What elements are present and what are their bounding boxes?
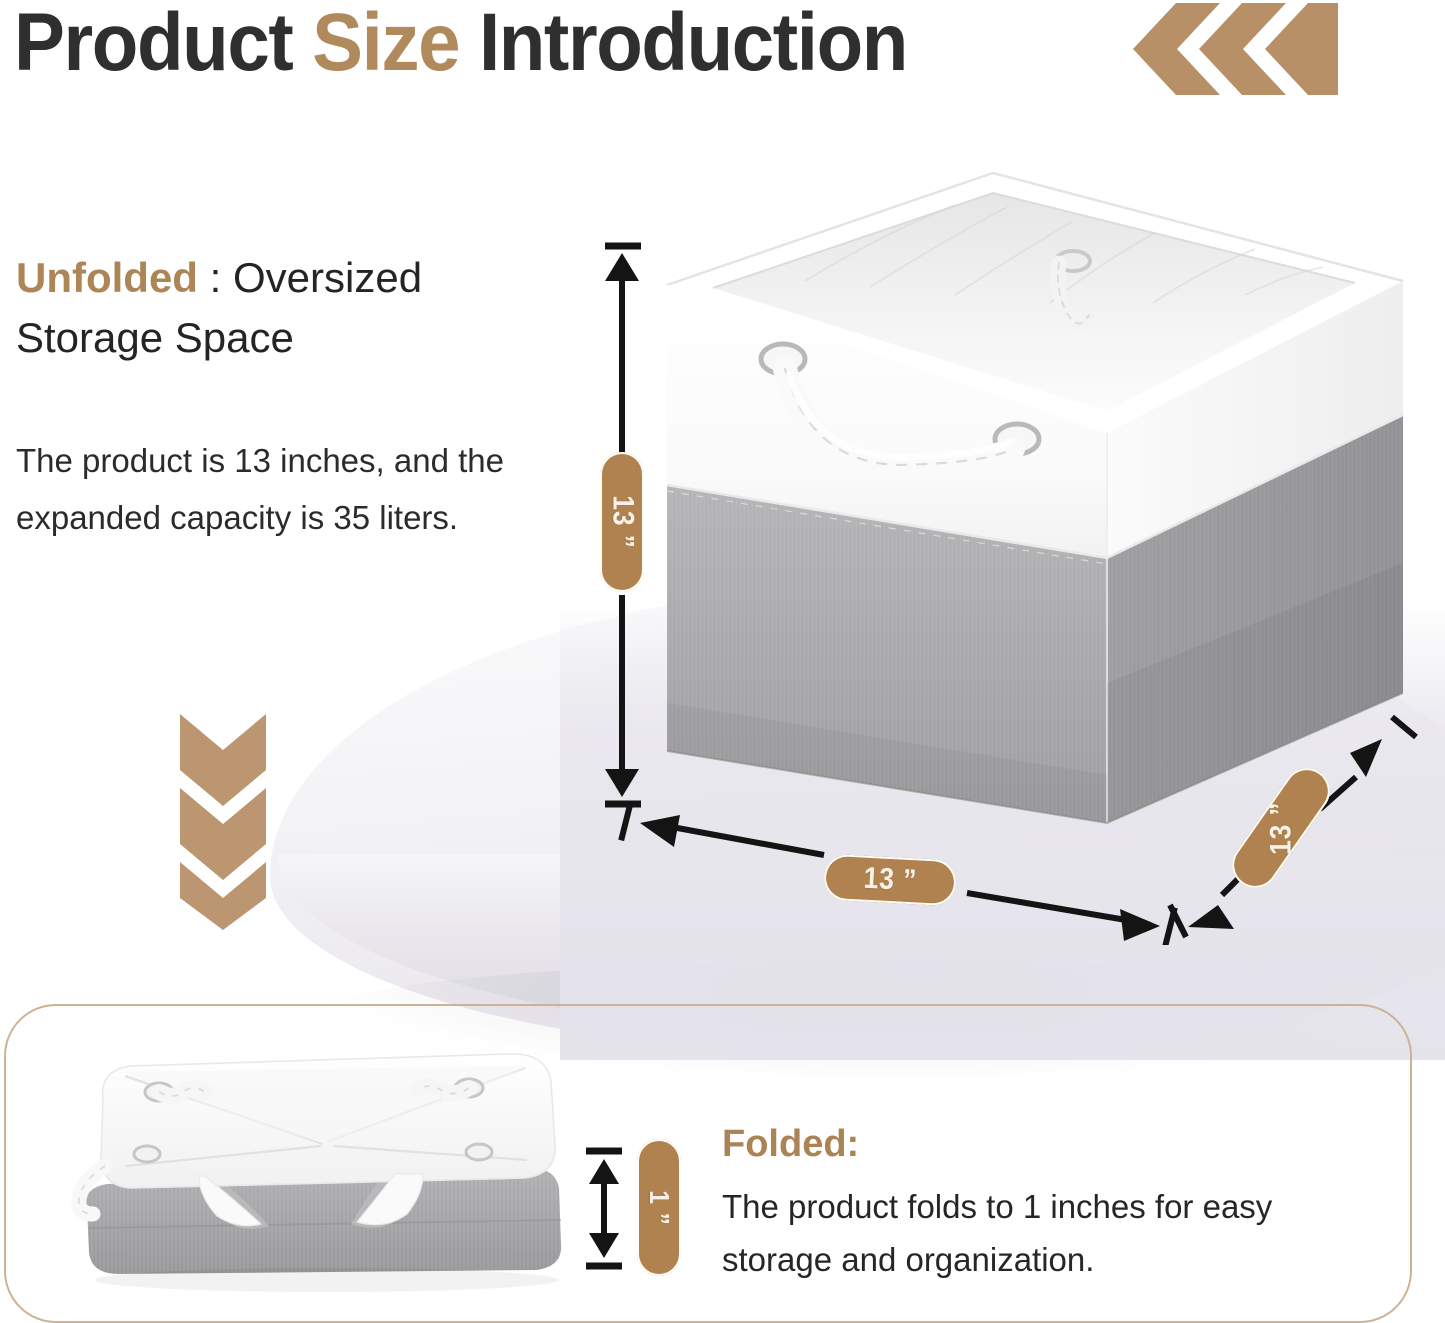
page-title-part1: Product (14, 0, 312, 88)
infographic-canvas: Product Size Introduction Unfolded : Ove… (0, 0, 1445, 1321)
folded-body-text: The product folds to 1 inches for easy s… (722, 1180, 1382, 1287)
width-dimension-label: 13 ” (862, 862, 917, 899)
chevron-left-triple-icon (1118, 2, 1338, 97)
width-dimension-badge: 13 ” (823, 854, 957, 907)
page-title-accent: Size (312, 0, 459, 88)
height-dimension-label: 13 ” (605, 495, 639, 548)
unfolded-body-text: The product is 13 inches, and the expand… (16, 433, 536, 547)
unfolded-heading-sep: : (198, 254, 233, 301)
storage-basket-folded-image (55, 1048, 595, 1303)
chevron-down-triple-icon (176, 712, 276, 932)
folded-heading: Folded: (722, 1123, 859, 1166)
page-title-part2: Introduction (459, 0, 907, 88)
folded-height-dimension-label: 1 ” (643, 1190, 675, 1226)
folded-height-dimension-badge: 1 ” (637, 1139, 681, 1276)
height-dimension-badge: 13 ” (600, 452, 644, 592)
page-title: Product Size Introduction (14, 0, 907, 90)
unfolded-heading: Unfolded : Oversized Storage Space (16, 248, 536, 369)
unfolded-heading-accent: Unfolded (16, 254, 198, 301)
dimension-folded-height (576, 1146, 636, 1271)
depth-dimension-label: 13 ” (1264, 801, 1298, 854)
